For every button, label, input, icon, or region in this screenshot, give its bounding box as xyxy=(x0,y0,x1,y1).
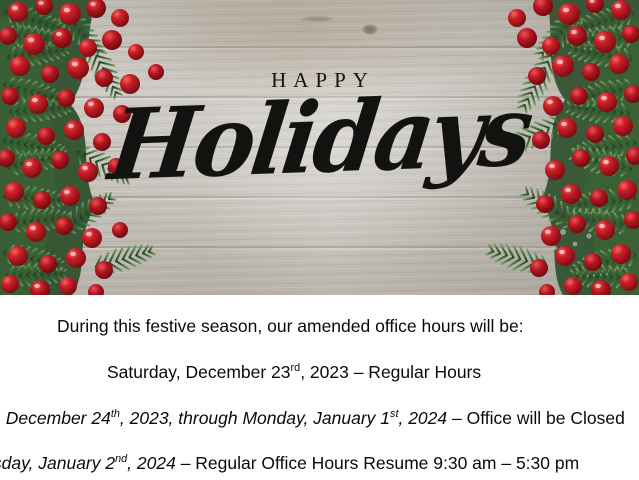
ordinal-suffix: th xyxy=(111,408,120,420)
notice-line-closed-date: Sunday, December 24th, 2023, through Mon… xyxy=(0,408,447,428)
ordinal-suffix: st xyxy=(390,408,398,420)
holiday-hours-page: HAPPY Holidays During this festive seaso… xyxy=(0,0,639,480)
wood-grain-mark xyxy=(300,16,334,22)
office-hours-notice: During this festive season, our amended … xyxy=(0,295,639,480)
notice-line-resume-detail: – Regular Office Hours Resume 9:30 am – … xyxy=(176,453,579,473)
ordinal-suffix: nd xyxy=(115,453,127,465)
notice-line-resume-date: Tuesday, January 2nd, 2024 xyxy=(0,453,176,473)
notice-line-saturday-date: Saturday, December 23rd, 2023 xyxy=(107,362,349,382)
wood-knot xyxy=(362,24,378,35)
holiday-banner-image: HAPPY Holidays xyxy=(0,0,639,295)
notice-line-closed-detail: – Office will be Closed xyxy=(447,408,625,428)
banner-title-block: HAPPY Holidays xyxy=(0,70,639,188)
ordinal-suffix: rd xyxy=(291,362,301,374)
notice-line-saturday: Saturday, December 23rd, 2023 – Regular … xyxy=(107,362,481,382)
notice-line-saturday-detail: – Regular Hours xyxy=(349,362,481,382)
notice-line-closed: Sunday, December 24th, 2023, through Mon… xyxy=(0,408,625,428)
banner-title-holidays: Holidays xyxy=(0,75,639,203)
notice-intro-line: During this festive season, our amended … xyxy=(57,316,524,336)
notice-line-resume: Tuesday, January 2nd, 2024 – Regular Off… xyxy=(0,453,579,473)
